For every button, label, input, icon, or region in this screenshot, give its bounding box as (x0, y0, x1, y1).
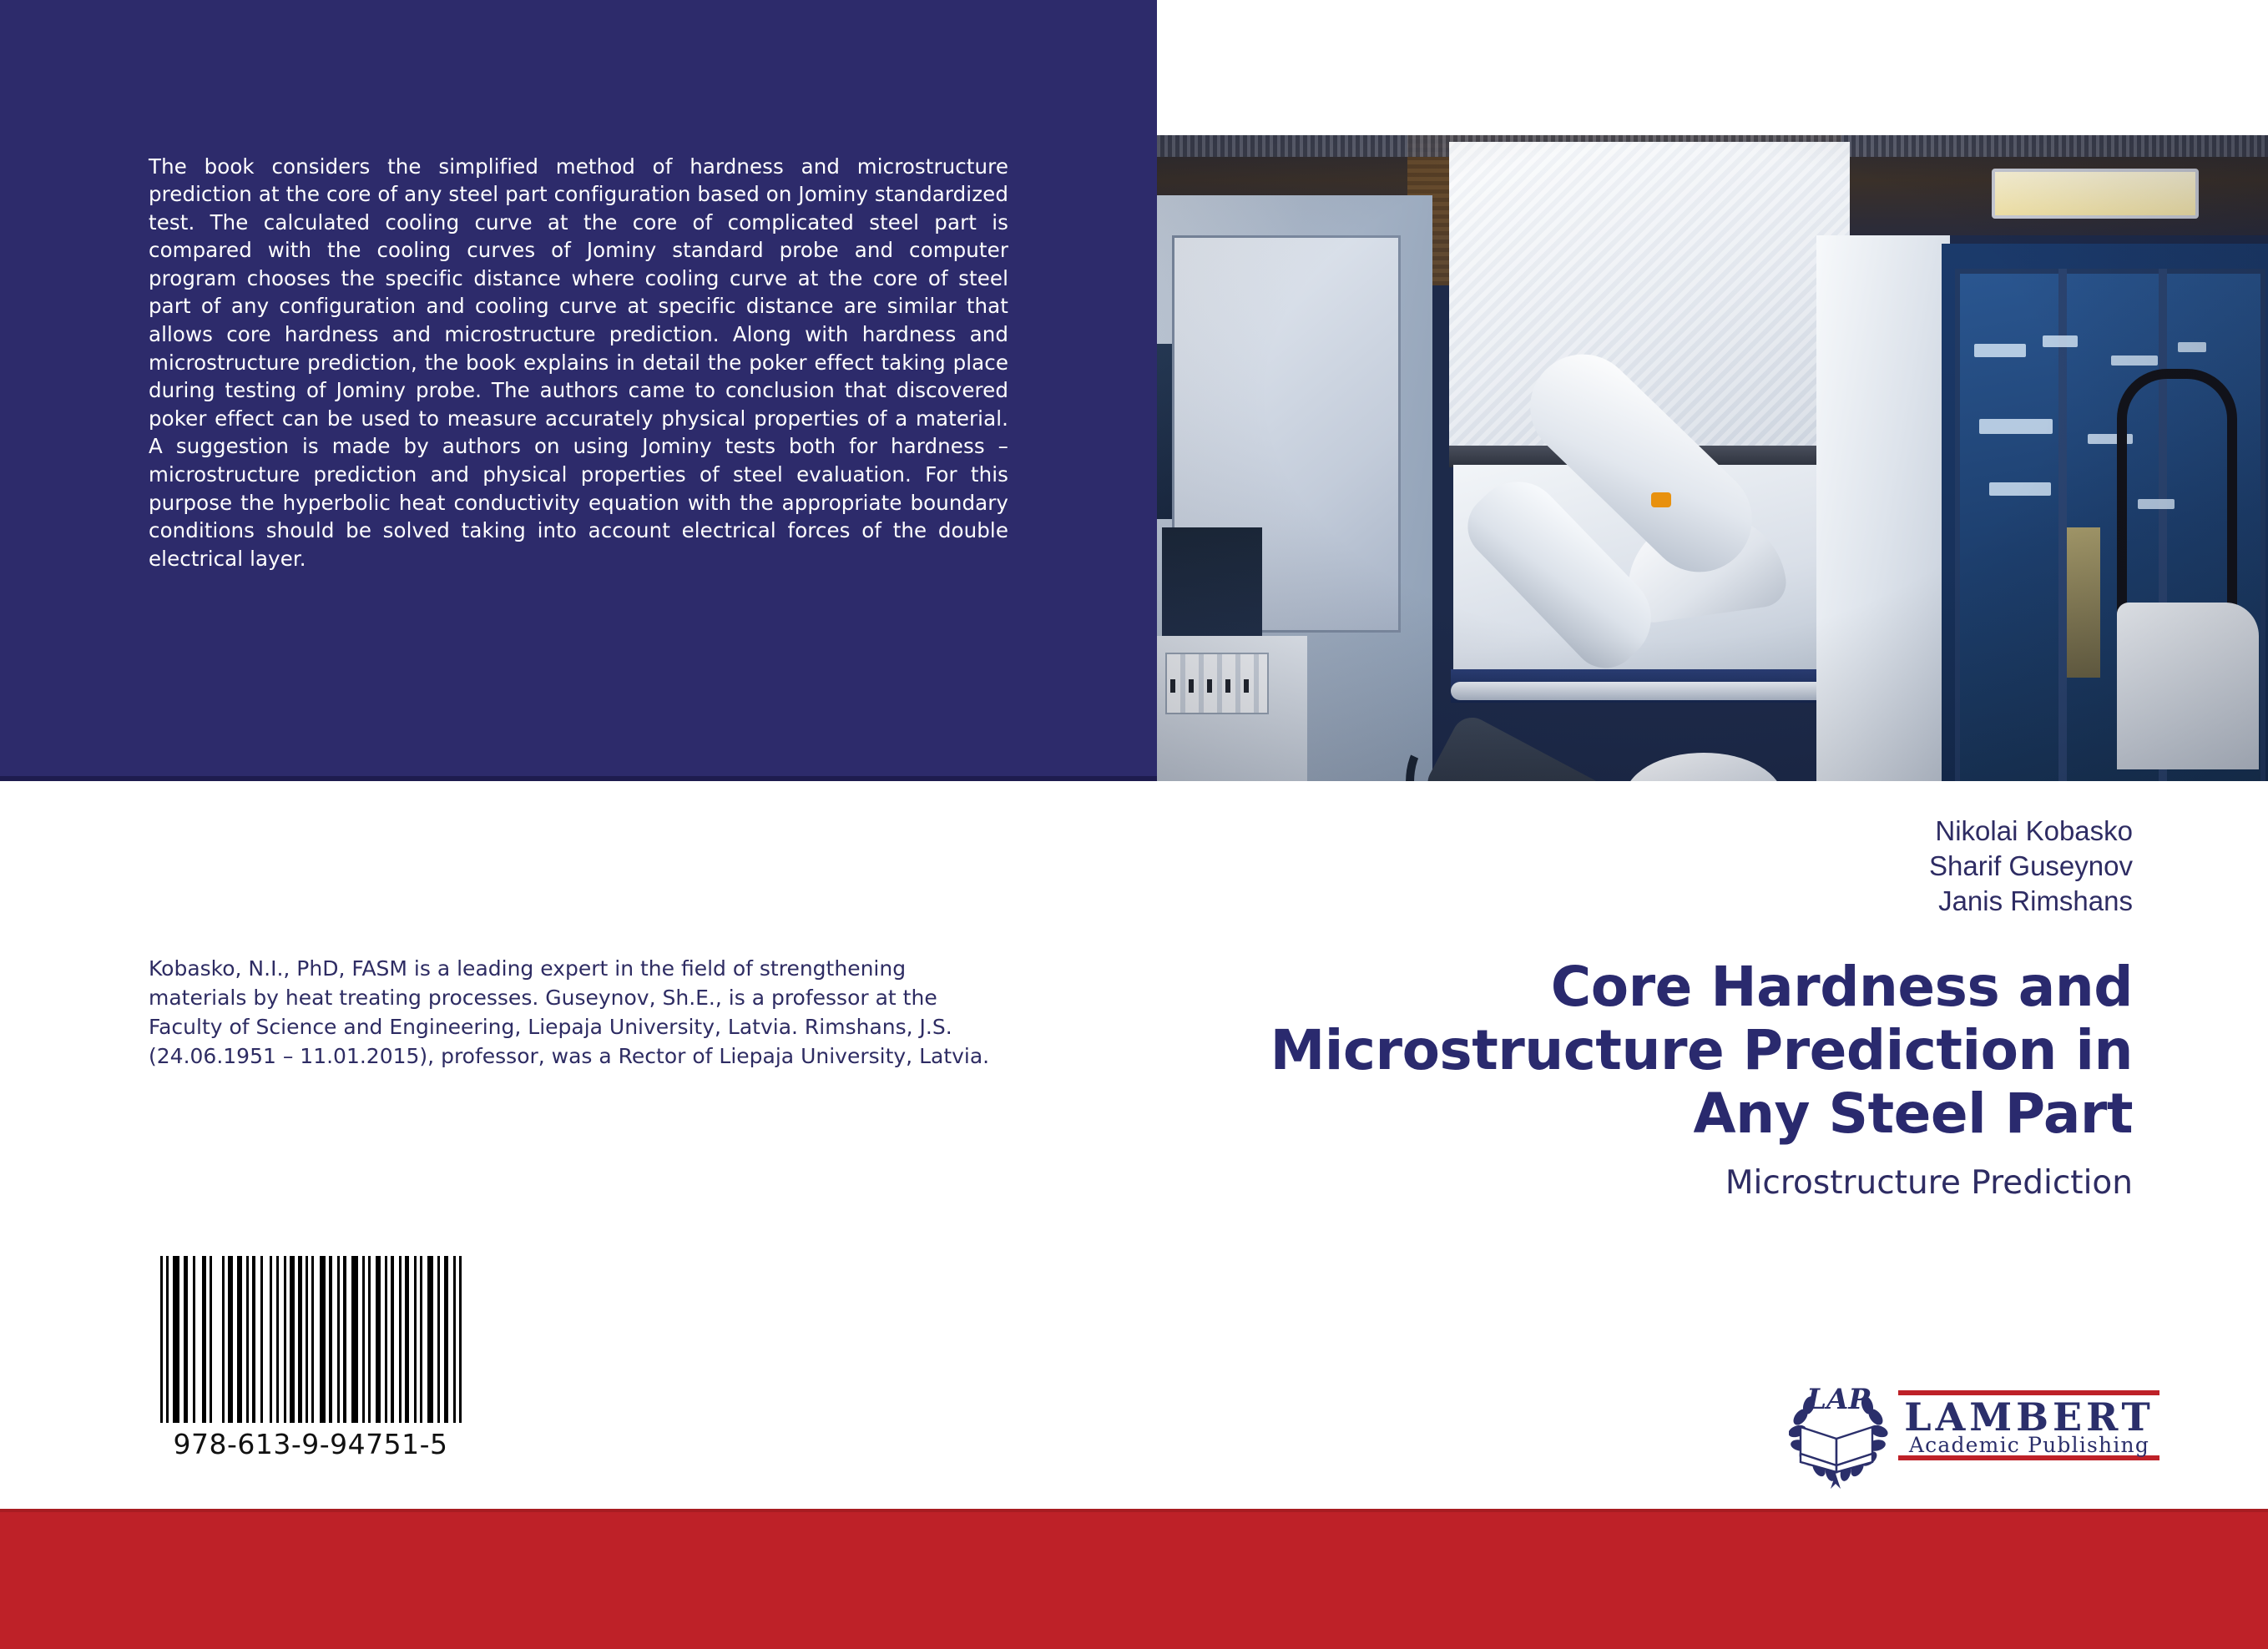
lap-emblem-text: LAP (1806, 1383, 1871, 1416)
book-subtitle: Microstructure Prediction (1215, 1164, 2133, 1202)
publisher-tagline: Academic Publishing (1908, 1433, 2149, 1457)
author-name-3: Janis Rimshans (1382, 884, 2133, 919)
isbn-barcode-block: 978-613-9-94751-5 (157, 1256, 474, 1460)
bottom-red-band (0, 1512, 2268, 1649)
photo-scene (1157, 135, 2268, 781)
book-title-line-3: Any Steel Part (1048, 1082, 2133, 1146)
back-cover-description: The book considers the simplified method… (149, 153, 1008, 573)
isbn-number: 978-613-9-94751-5 (157, 1428, 464, 1460)
book-title-line-2: Microstructure Prediction in (1048, 1019, 2133, 1082)
barcode-image (157, 1256, 464, 1423)
author-biography: Kobasko, N.I., PhD, FASM is a leading ex… (149, 954, 1008, 1071)
book-title-line-1: Core Hardness and (1048, 956, 2133, 1019)
author-name-1: Nikolai Kobasko (1382, 814, 2133, 849)
lambert-academic-publishing-logo: LAP LAMBERT Academic Publishing (1789, 1379, 2166, 1495)
navy-panel-edge (0, 776, 1157, 781)
author-names: Nikolai Kobasko Sharif Guseynov Janis Ri… (1382, 814, 2133, 919)
open-book-icon (1801, 1427, 1872, 1472)
book-title: Core Hardness and Microstructure Predict… (1048, 956, 2133, 1146)
book-cover: The book considers the simplified method… (0, 0, 2268, 1649)
photo-vignette (1157, 135, 2268, 781)
cover-photo (1157, 135, 2268, 781)
author-name-2: Sharif Guseynov (1382, 849, 2133, 884)
